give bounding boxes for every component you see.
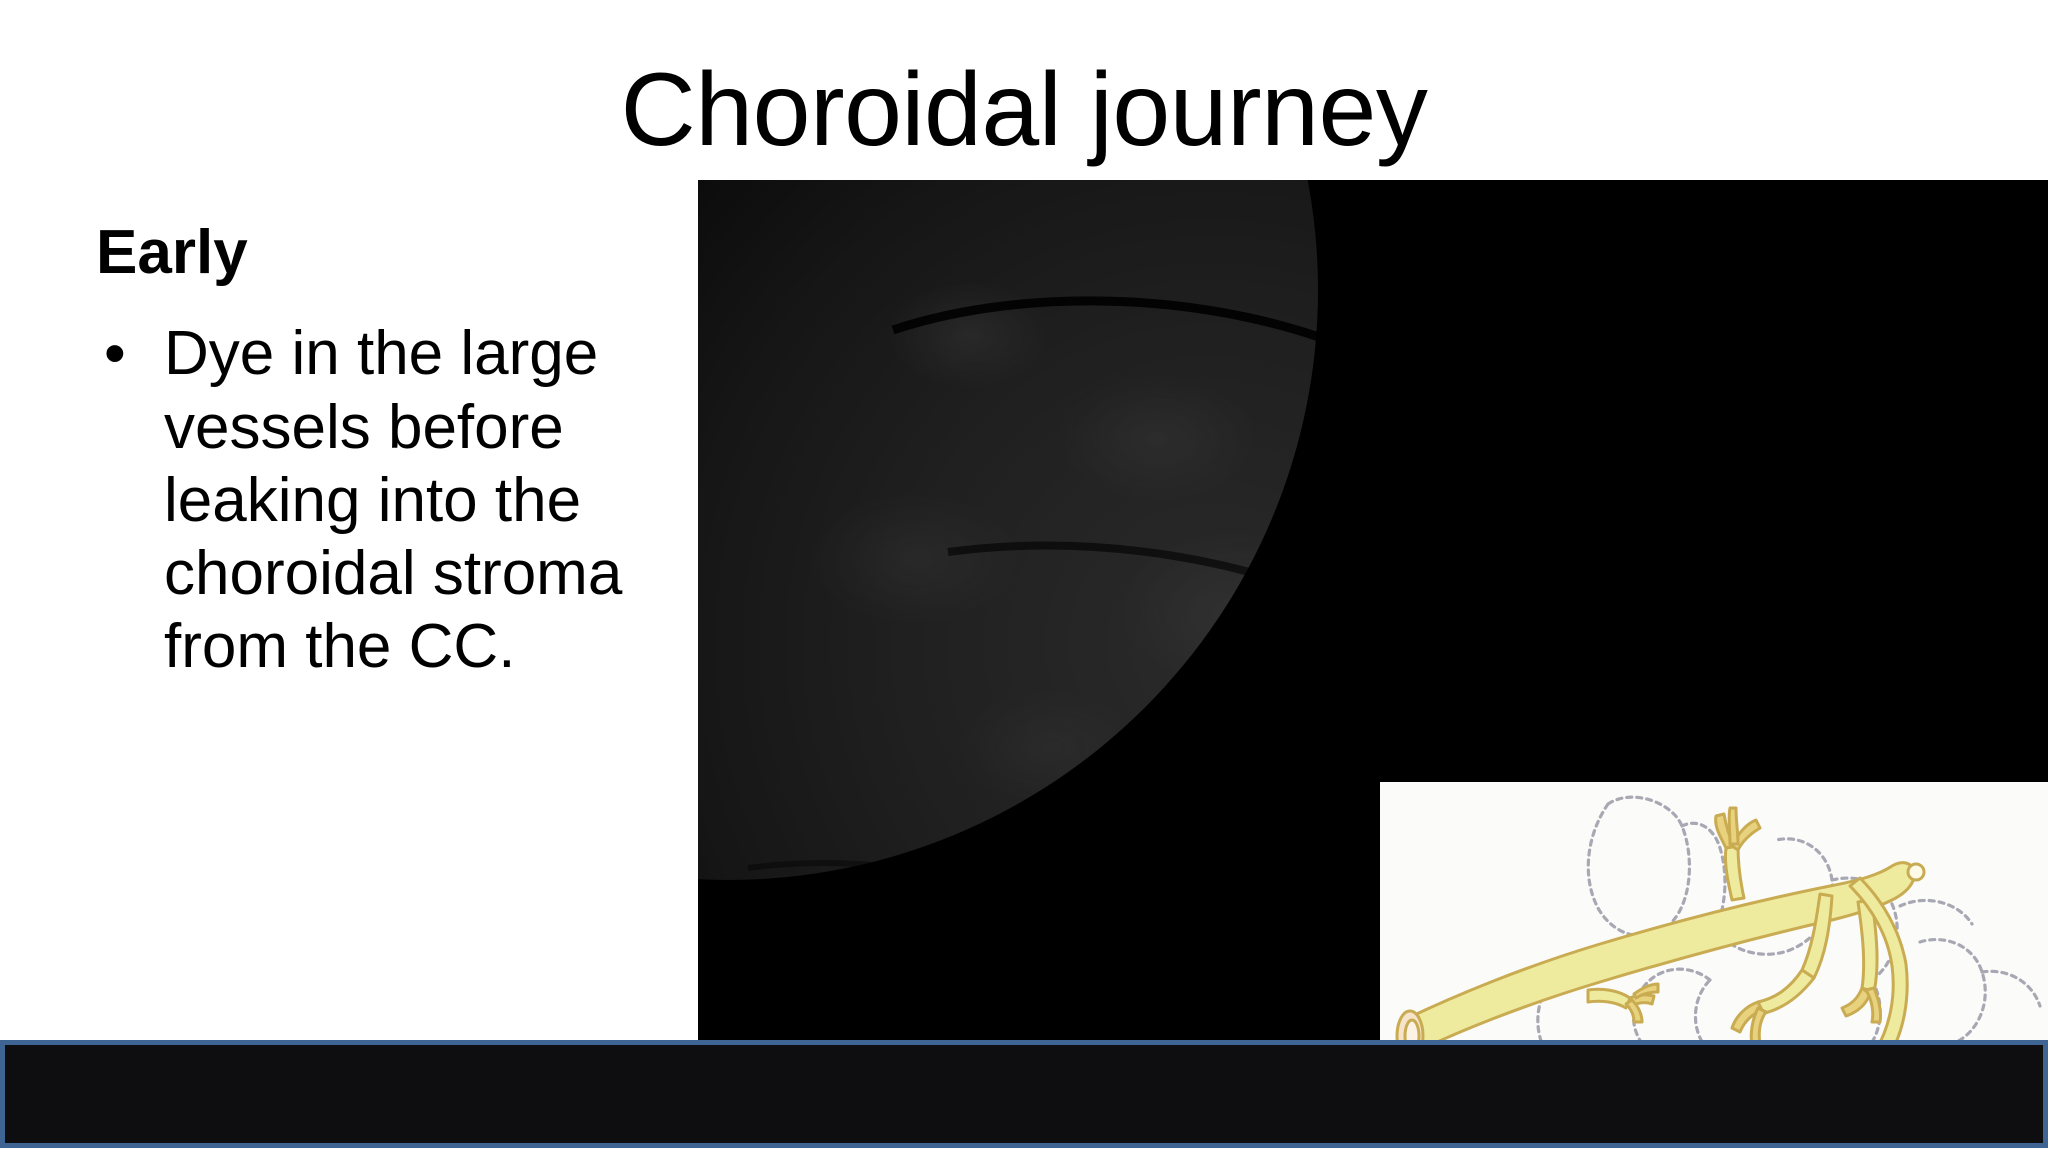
bullet-point-icon: • [96,317,164,390]
slide-canvas: Choroidal journey Early • Dye in the lar… [0,0,2048,1152]
bullet-list: • Dye in the large vessels before leakin… [96,317,716,683]
section-heading-early: Early [96,218,716,287]
bottom-white-strip [0,1148,2048,1152]
text-content-block: Early • Dye in the large vessels before … [96,218,716,683]
bullet-text: Dye in the large vessels before leaking … [164,317,709,683]
list-item: • Dye in the large vessels before leakin… [96,317,716,683]
page-title: Choroidal journey [0,56,2048,165]
bottom-accent-bar [0,1040,2048,1148]
